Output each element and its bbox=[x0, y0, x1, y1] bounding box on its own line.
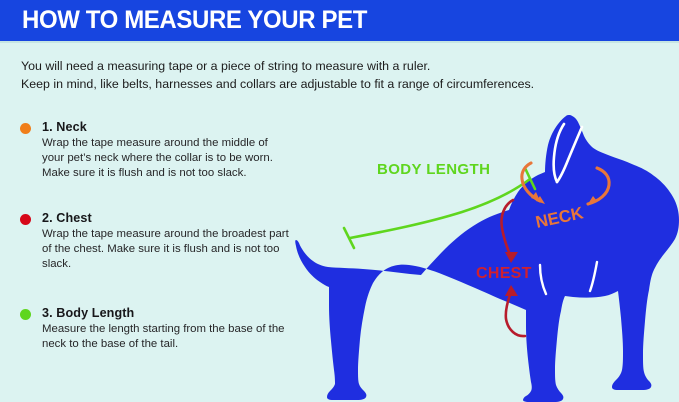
step-body: 2. Chest Wrap the tape measure around th… bbox=[42, 211, 292, 272]
step-title: 2. Chest bbox=[42, 211, 292, 226]
dog-measurement-diagram: BODY LENGTH NECK bbox=[292, 100, 679, 402]
step-item-chest: 2. Chest Wrap the tape measure around th… bbox=[20, 211, 292, 272]
intro-paragraph: You will need a measuring tape or a piec… bbox=[21, 57, 651, 93]
dog-silhouette-icon bbox=[295, 115, 679, 402]
bullet-dot-icon bbox=[20, 309, 31, 320]
label-body-length: BODY LENGTH bbox=[377, 161, 490, 178]
header-divider bbox=[0, 41, 679, 43]
step-title: 1. Neck bbox=[42, 120, 292, 135]
intro-line-2: Keep in mind, like belts, harnesses and … bbox=[21, 75, 651, 93]
step-description: Wrap the tape measure around the middle … bbox=[42, 136, 292, 181]
step-title: 3. Body Length bbox=[42, 306, 292, 321]
infographic-root: HOW TO MEASURE YOUR PET You will need a … bbox=[0, 0, 679, 402]
step-body: 3. Body Length Measure the length starti… bbox=[42, 306, 292, 352]
bullet-dot-icon bbox=[20, 123, 31, 134]
page-title: HOW TO MEASURE YOUR PET bbox=[22, 7, 367, 34]
intro-line-1: You will need a measuring tape or a piec… bbox=[21, 57, 651, 75]
step-description: Measure the length starting from the bas… bbox=[42, 322, 292, 352]
step-body: 1. Neck Wrap the tape measure around the… bbox=[42, 120, 292, 181]
step-item-body-length: 3. Body Length Measure the length starti… bbox=[20, 306, 292, 352]
header-bar: HOW TO MEASURE YOUR PET bbox=[0, 0, 679, 41]
step-item-neck: 1. Neck Wrap the tape measure around the… bbox=[20, 120, 292, 181]
step-description: Wrap the tape measure around the broades… bbox=[42, 227, 292, 272]
label-chest: CHEST bbox=[476, 265, 532, 282]
bullet-dot-icon bbox=[20, 214, 31, 225]
